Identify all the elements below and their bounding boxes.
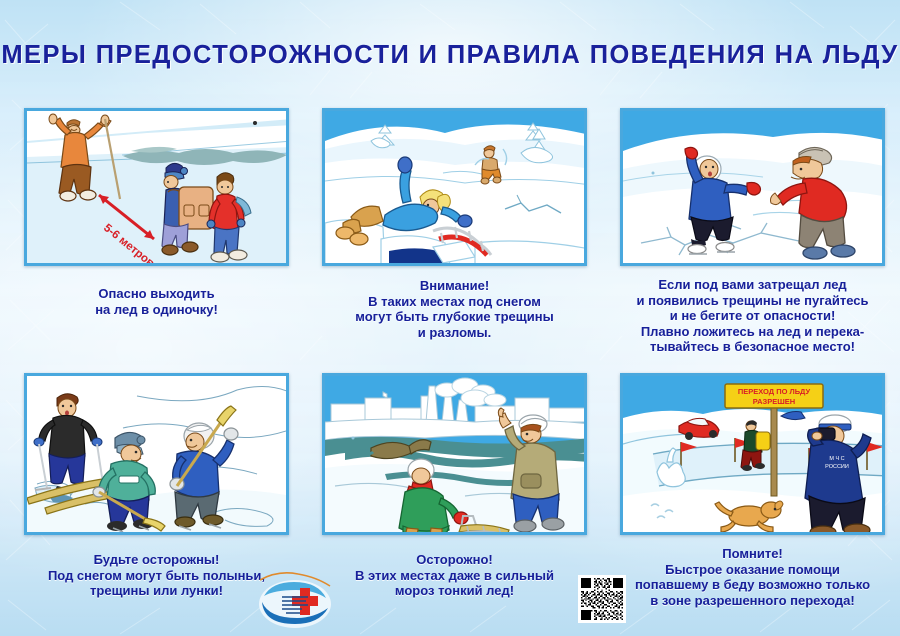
panel-3-caption-line-1: Если под вами затрещал лед	[615, 277, 890, 293]
panel-2-caption-line-1: Внимание!	[322, 278, 587, 294]
panel-3-caption-line-4: Плавно ложитесь на лед и перека-	[615, 324, 890, 340]
panel-1-illustration-frame: 5-6 метров	[24, 108, 289, 266]
page-title: МЕРЫ ПРЕДОСТОРОЖНОСТИ И ПРАВИЛА ПОВЕДЕНИ…	[1, 41, 898, 70]
panel-2-caption-line-2: В таких местах под снегом	[322, 294, 587, 310]
panel-3-caption: Если под вами затрещал лед и появились т…	[615, 277, 890, 355]
panel-4-caption-line-3: трещины или лунки!	[24, 583, 289, 599]
panel-1-illustration: 5-6 метров	[27, 111, 286, 263]
panel-1-caption: Опасно выходить на лед в одиночку!	[24, 286, 289, 317]
crossing-sign-line-2: РАЗРЕШЕН	[753, 397, 795, 406]
panel-3-caption-line-5: тывайтесь в безопасное место!	[615, 339, 890, 355]
panel-5-caption-line-1: Осторожно!	[322, 552, 587, 568]
panel-6-illustration-frame: ПЕРЕХОД ПО ЛЬДУ РАЗРЕШЕН	[620, 373, 885, 535]
health-center-logo	[256, 566, 334, 632]
panel-6-illustration: ПЕРЕХОД ПО ЛЬДУ РАЗРЕШЕН	[623, 376, 882, 532]
panel-4-illustration-frame	[24, 373, 289, 535]
mchs-badge-line-1: М Ч С	[829, 456, 844, 462]
poster-title-band: МЕРЫ ПРЕДОСТОРОЖНОСТИ И ПРАВИЛА ПОВЕДЕНИ…	[0, 24, 900, 86]
panel-4-caption-line-2: Под снегом могут быть полыньи,	[24, 568, 289, 584]
panel-6-caption: Помните! Быстрое оказание помощи попавше…	[615, 546, 890, 608]
panel-5-caption-line-3: мороз тонкий лед!	[322, 583, 587, 599]
panel-5-caption: Осторожно! В этих местах даже в сильный …	[322, 552, 587, 599]
panel-2-illustration	[325, 111, 584, 263]
panel-6-caption-line-1: Помните!	[615, 546, 890, 562]
panel-3-caption-line-2: и появились трещины не пугайтесь	[615, 293, 890, 309]
panel-4-caption: Будьте осторожны! Под снегом могут быть …	[24, 552, 289, 599]
panel-1-caption-line-2: на лед в одиночку!	[24, 302, 289, 318]
panel-2-illustration-frame	[322, 108, 587, 266]
qr-code	[578, 575, 626, 623]
panel-5-illustration	[325, 376, 584, 532]
poster-canvas: МЕРЫ ПРЕДОСТОРОЖНОСТИ И ПРАВИЛА ПОВЕДЕНИ…	[0, 0, 900, 636]
panel-2-caption-line-4: и разломы.	[322, 325, 587, 341]
panel-1-caption-line-1: Опасно выходить	[24, 286, 289, 302]
mchs-badge-line-2: РОССИИ	[825, 464, 849, 470]
crossing-sign-line-1: ПЕРЕХОД ПО ЛЬДУ	[738, 387, 811, 396]
panel-2-caption-line-3: могут быть глубокие трещины	[322, 309, 587, 325]
panel-6-caption-line-4: в зоне разрешенного перехода!	[615, 593, 890, 609]
panel-3-illustration	[623, 111, 882, 263]
panel-6-caption-line-3: попавшему в беду возможно только	[615, 577, 890, 593]
panel-4-caption-line-1: Будьте осторожны!	[24, 552, 289, 568]
panel-4-illustration	[27, 376, 286, 532]
panel-5-caption-line-2: В этих местах даже в сильный	[322, 568, 587, 584]
panel-3-caption-line-3: и не бегите от опасности!	[615, 308, 890, 324]
panel-2-caption: Внимание! В таких местах под снегом могу…	[322, 278, 587, 340]
panel-5-illustration-frame	[322, 373, 587, 535]
panel-6-caption-line-2: Быстрое оказание помощи	[615, 562, 890, 578]
panel-3-illustration-frame	[620, 108, 885, 266]
